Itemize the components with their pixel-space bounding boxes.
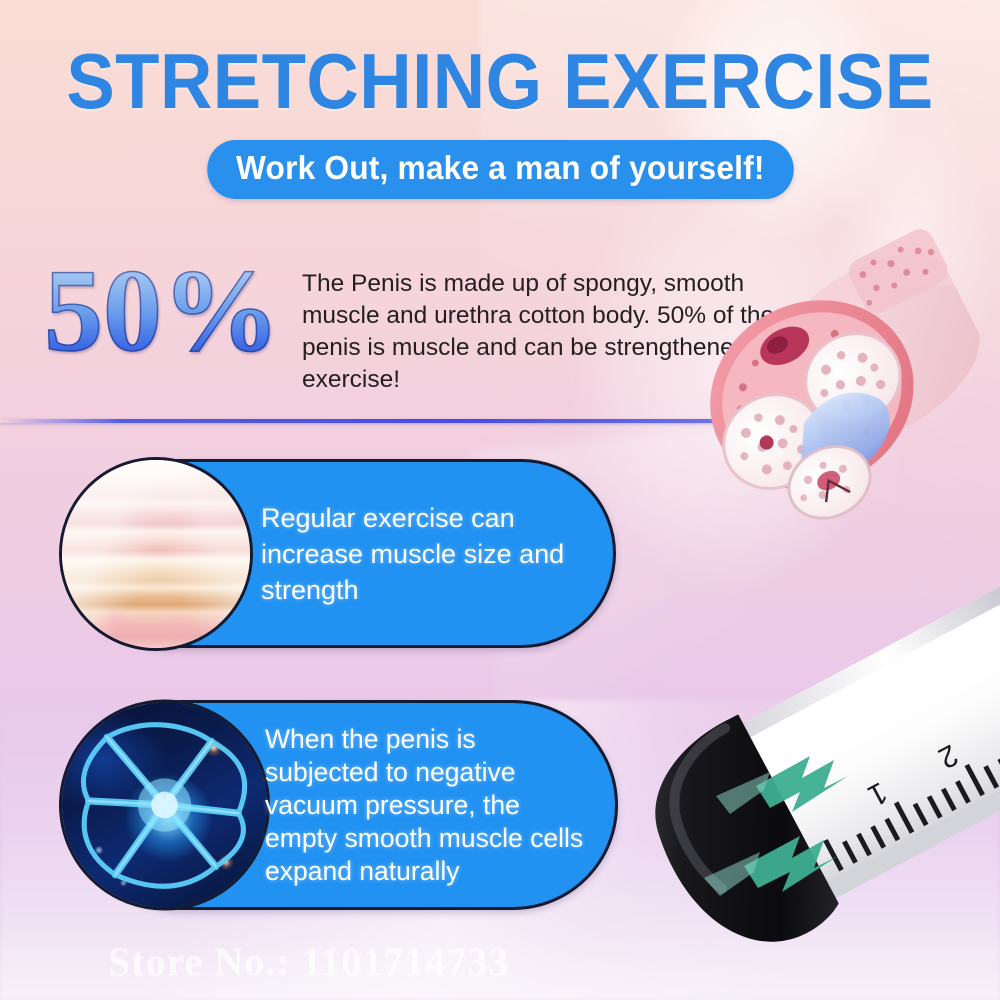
- feature-text: Regular exercise can increase muscle siz…: [261, 500, 581, 608]
- section-divider: [0, 419, 770, 423]
- promotional-poster: STRETCHING EXERCISE Work Out, make a man…: [0, 0, 1000, 1000]
- feature-card-vacuum-expansion: When the penis is subjected to negative …: [78, 700, 618, 910]
- subtitle-banner-wrap: Work Out, make a man of yourself!: [0, 140, 1000, 199]
- subtitle-banner: Work Out, make a man of yourself!: [207, 140, 793, 199]
- percent-stat: 50%: [44, 252, 280, 370]
- page-title: STRETCHING EXERCISE: [35, 36, 965, 127]
- product-device-illustration: 1 2: [620, 600, 1000, 1000]
- feature-card-muscle-growth: Regular exercise can increase muscle siz…: [78, 459, 616, 648]
- neuron-cells-icon: [59, 700, 270, 911]
- anatomy-illustration: [640, 198, 1000, 642]
- feature-text: When the penis is subjected to negative …: [265, 723, 595, 888]
- skin-layers-icon: [59, 457, 253, 651]
- store-watermark: Store No.: 1101714733: [108, 938, 509, 985]
